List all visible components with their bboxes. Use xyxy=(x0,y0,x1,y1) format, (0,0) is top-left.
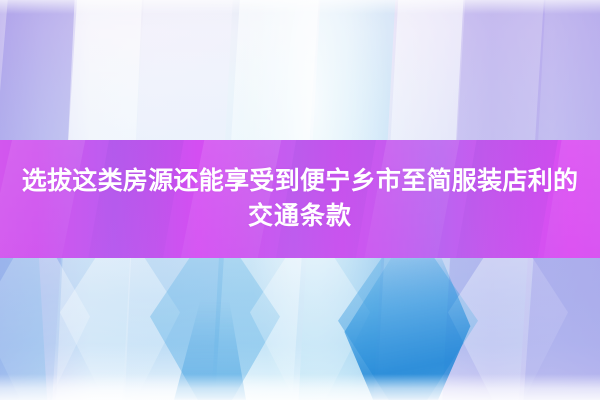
top-highlight-haze xyxy=(0,0,600,14)
band-shard xyxy=(84,140,188,258)
band-shard xyxy=(272,140,380,258)
band-shard xyxy=(176,140,286,258)
band-shard xyxy=(360,140,464,258)
band-shard xyxy=(0,140,90,258)
promo-banner: 选拔这类房源还能享受到便宁乡市至简服装店利的 交通条款 xyxy=(0,0,600,400)
watermark-label xyxy=(282,378,322,392)
headline-band xyxy=(0,140,600,258)
band-shard xyxy=(452,140,562,258)
